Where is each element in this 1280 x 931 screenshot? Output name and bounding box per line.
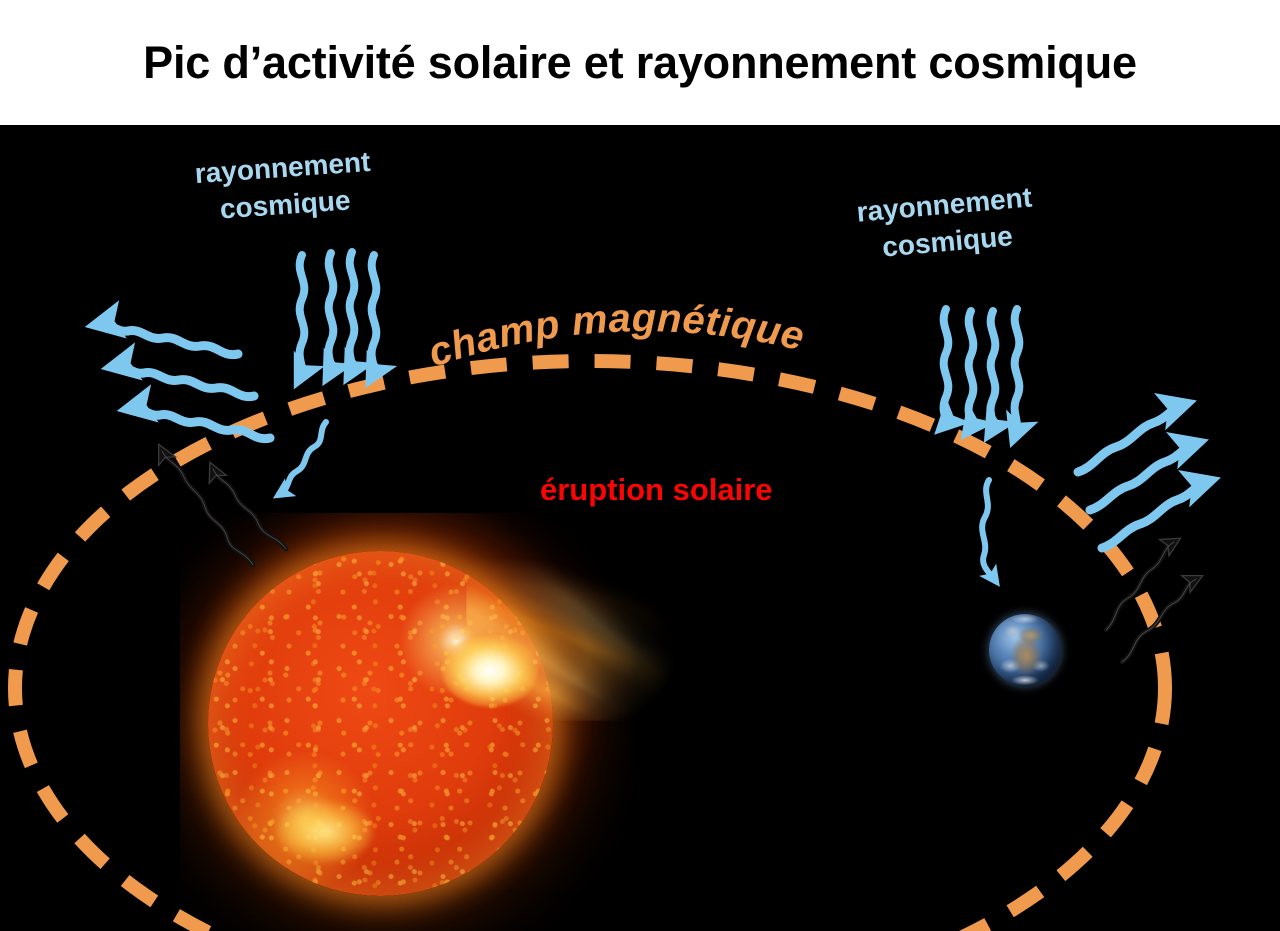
diagram-stage: champ magnétique rayonnement cosmique ra… (0, 125, 1280, 931)
magnetic-field-ellipse (15, 361, 1165, 931)
page-title: Pic d’activité solaire et rayonnement co… (143, 40, 1137, 85)
slide-title-bar: Pic d’activité solaire et rayonnement co… (0, 0, 1280, 125)
cosmic-ray-label-left: rayonnement cosmique (194, 144, 375, 230)
solar-flare-label: éruption solaire (540, 472, 773, 508)
penetrating-ray-left (280, 422, 326, 494)
incoming-rays-left (300, 252, 377, 377)
penetrating-ray-right (982, 480, 995, 580)
incoming-rays-right (944, 309, 1020, 435)
shadow-rays-left (162, 451, 286, 565)
cosmic-ray-label-right: rayonnement cosmique (855, 179, 1037, 268)
slide-root: Pic d’activité solaire et rayonnement co… (0, 0, 1280, 931)
diagram-vector-layer: champ magnétique (0, 125, 1280, 931)
deflected-rays-right (1078, 405, 1206, 548)
